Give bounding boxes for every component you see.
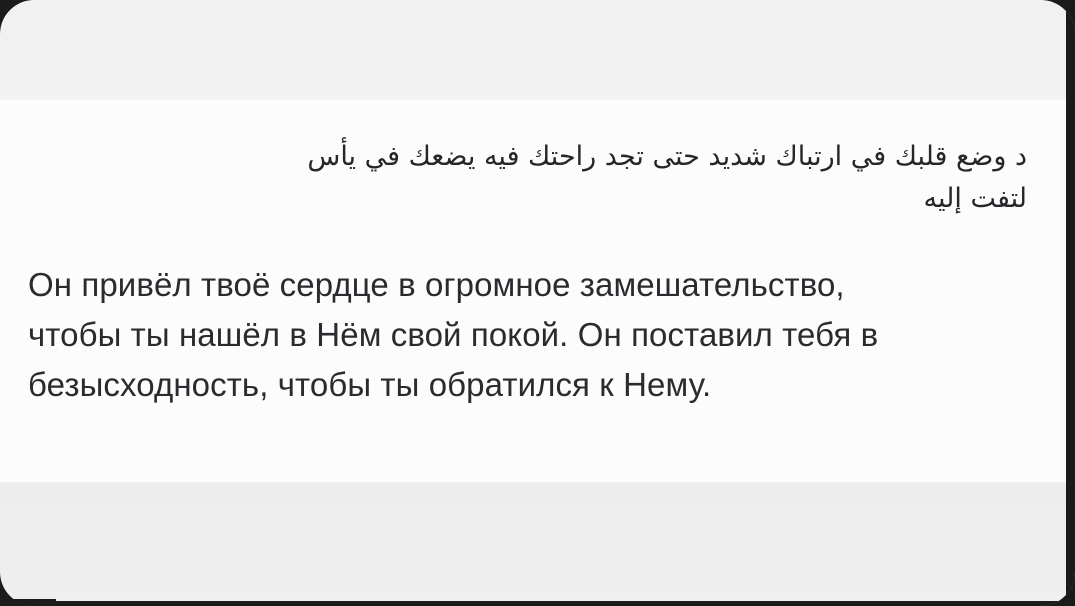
arabic-quote-line-1: د وضع قلبك في ارتباك شديد حتى تجد راحتك … (48, 136, 1027, 178)
arabic-quote-block: د وضع قلبك في ارتباك شديد حتى تجد راحتك … (0, 136, 1075, 220)
russian-translation-line-3: безысходность, чтобы ты обратился к Нему… (28, 360, 1049, 410)
russian-translation-line-2: чтобы ты нашёл в Нём свой покой. Он пост… (28, 310, 1049, 360)
bottom-edge-artifact (0, 601, 1075, 606)
quote-card: د وضع قلبك في ارتباك شديد حتى تجد راحتك … (0, 100, 1075, 482)
russian-translation-block: Он привёл твоё сердце в огромное замешат… (0, 260, 1075, 410)
screenshot-frame: د وضع قلبك في ارتباك شديد حتى تجد راحتك … (0, 0, 1075, 606)
bottom-left-edge-artifact (0, 599, 56, 606)
arabic-quote-line-2: لتفت إليه (48, 178, 1027, 220)
russian-translation-line-1: Он привёл твоё сердце в огромное замешат… (28, 260, 1049, 310)
